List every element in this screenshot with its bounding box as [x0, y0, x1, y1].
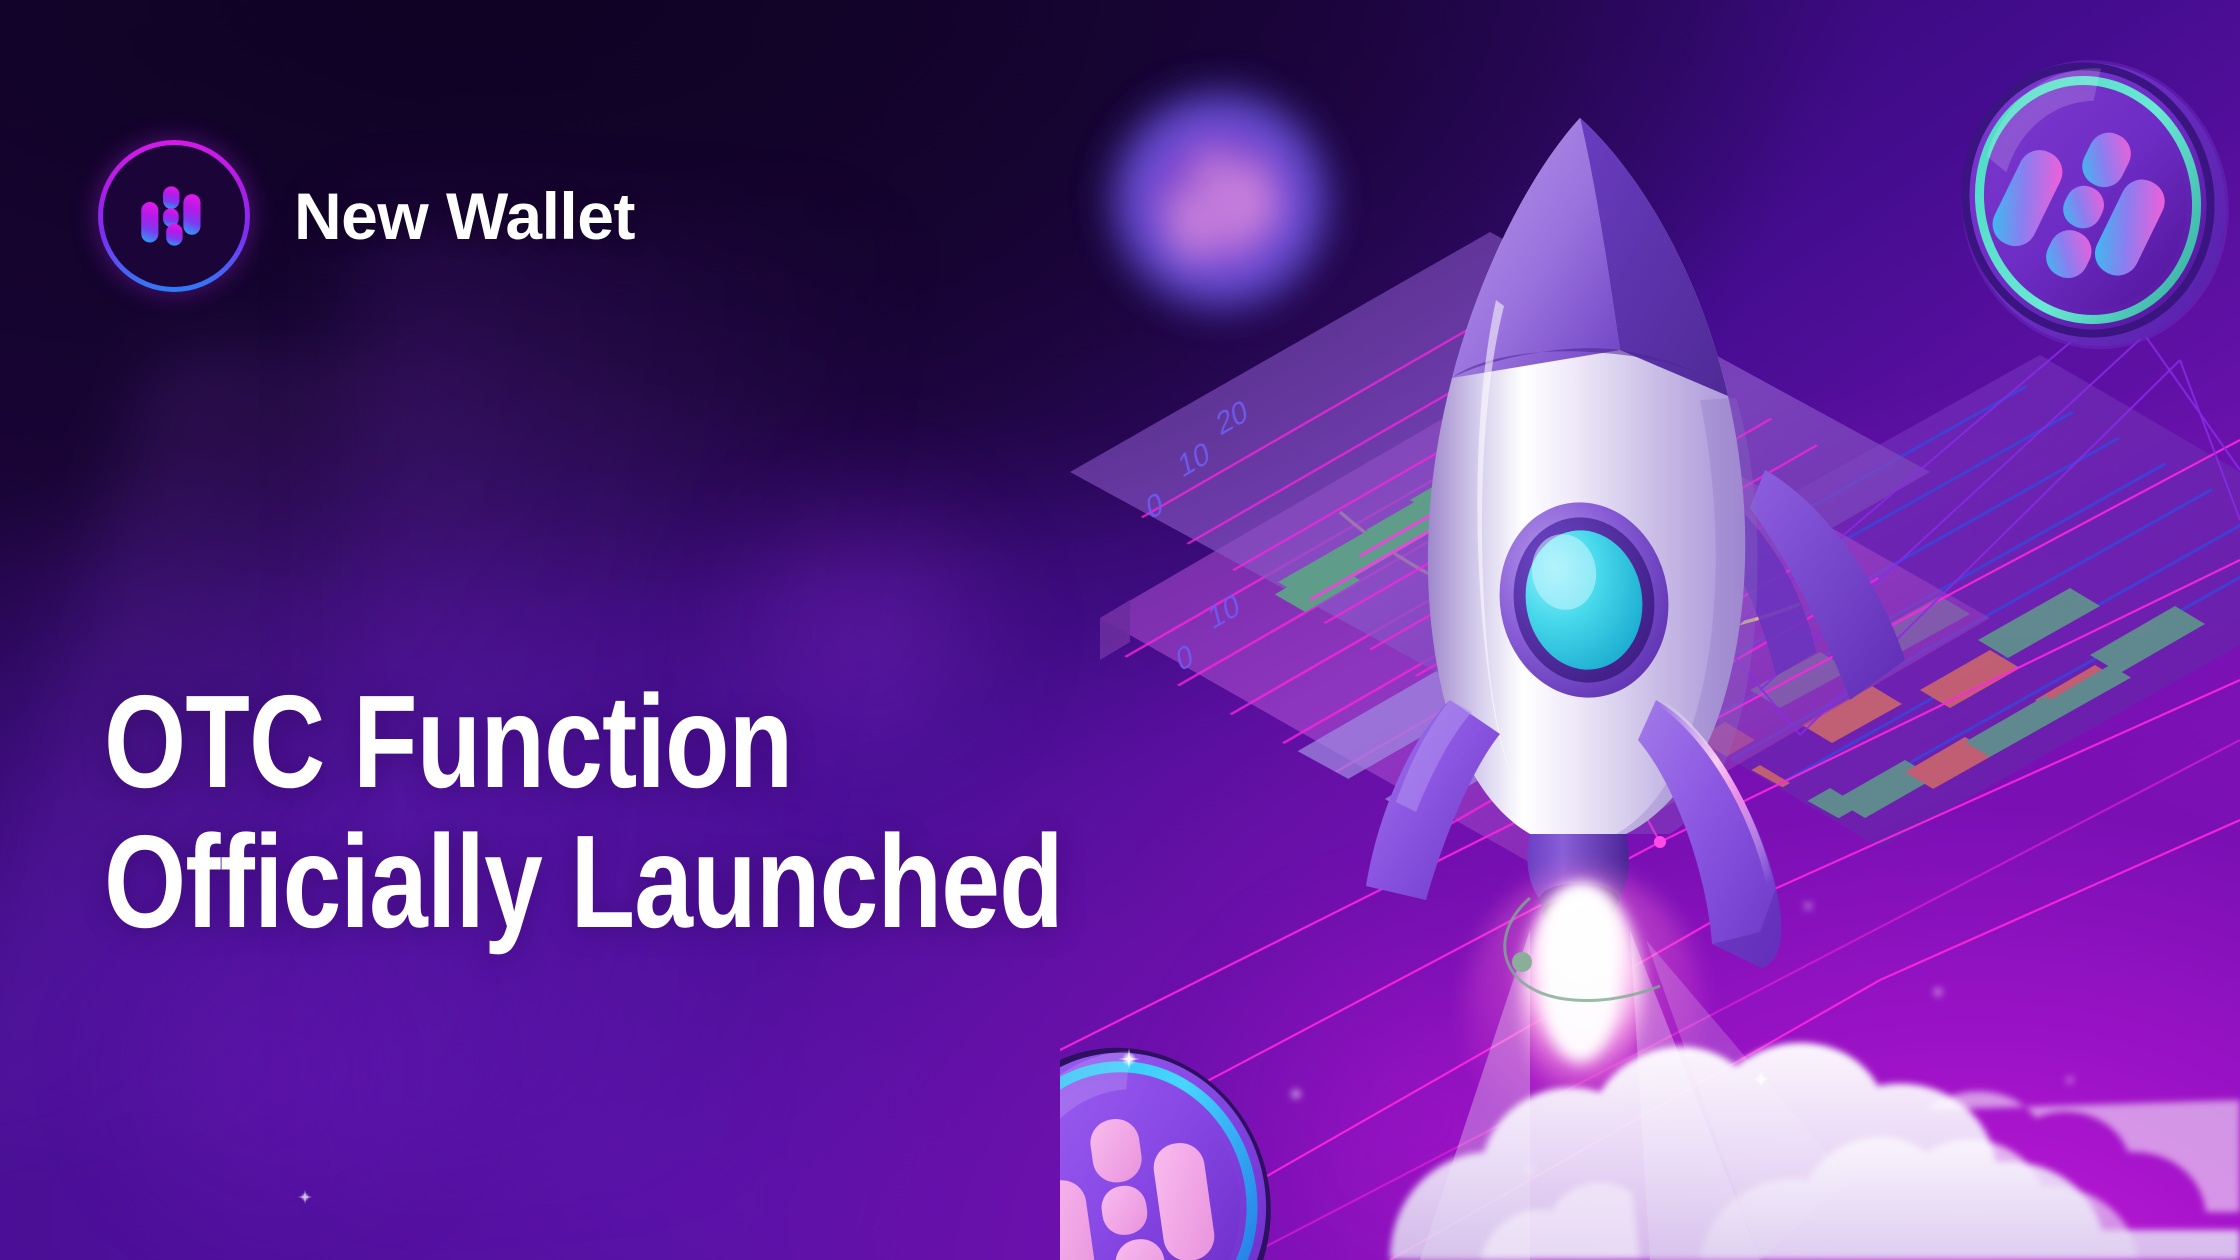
brand-header: New Wallet — [98, 140, 635, 292]
coin-blurred-left — [1100, 80, 1340, 320]
headline-line-1: OTC Function — [104, 672, 1063, 812]
headline-line-2: Officially Launched — [104, 812, 1063, 952]
promo-banner: 0 10 — [0, 0, 2240, 1260]
coin-bottom — [1060, 1012, 1311, 1260]
new-wallet-logo-icon — [98, 140, 250, 292]
coin-top-right — [1935, 35, 2240, 374]
new-wallet-n-logo — [135, 177, 213, 255]
page-title: OTC Function Officially Launched — [104, 672, 1063, 952]
illustration-rocket-scene: 0 10 — [1060, 0, 2240, 1260]
orbit-wire-node — [1512, 952, 1532, 972]
brand-name: New Wallet — [294, 178, 635, 254]
background-glow-bottom-left — [67, 907, 487, 1227]
